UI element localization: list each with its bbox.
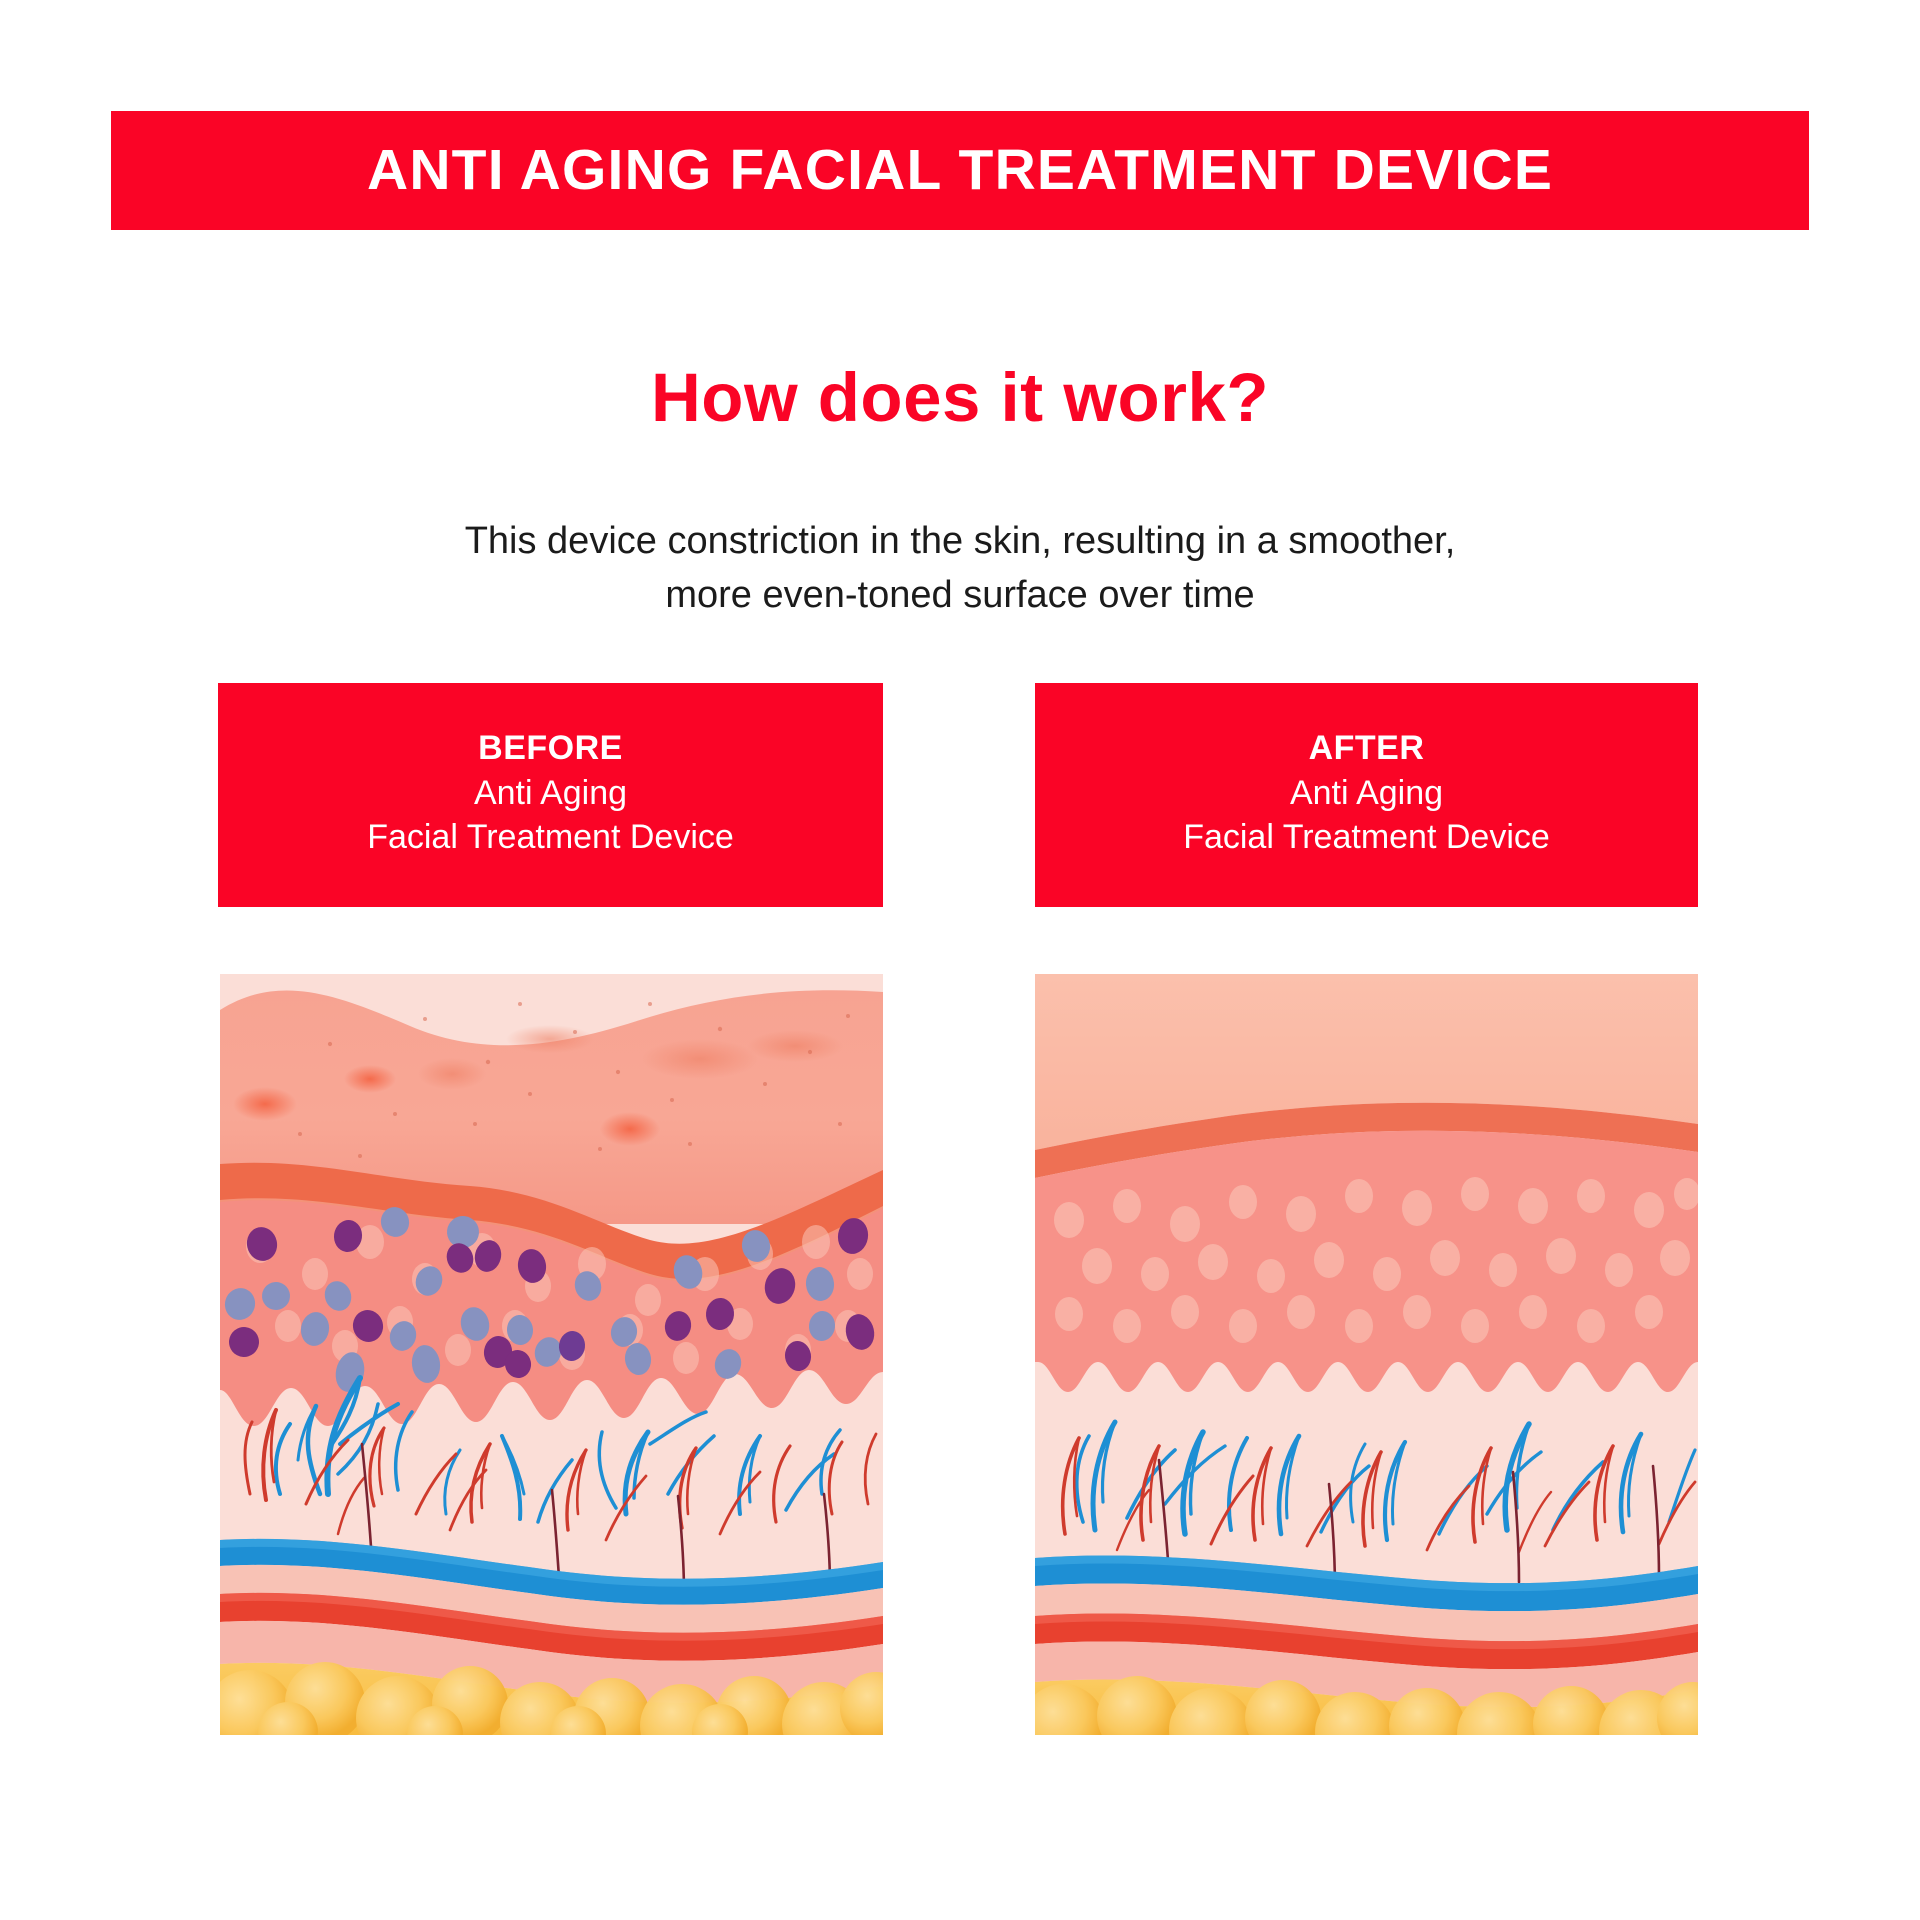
before-skin-illustration (220, 974, 883, 1735)
before-label-box: BEFORE Anti Aging Facial Treatment Devic… (218, 683, 883, 907)
description-line-1: This device constriction in the skin, re… (360, 515, 1560, 569)
after-product-line-1: Anti Aging (1290, 771, 1443, 815)
section-headline: How does it work? (0, 362, 1920, 434)
after-column: AFTER Anti Aging Facial Treatment Device (1035, 683, 1698, 907)
before-product-line-1: Anti Aging (474, 771, 627, 815)
before-product-line-2: Facial Treatment Device (367, 815, 734, 859)
header-banner: ANTI AGING FACIAL TREATMENT DEVICE (111, 111, 1809, 230)
page-title: ANTI AGING FACIAL TREATMENT DEVICE (367, 142, 1553, 199)
after-skin-illustration (1035, 974, 1698, 1735)
section-description: This device constriction in the skin, re… (360, 515, 1560, 623)
after-product-line-2: Facial Treatment Device (1183, 815, 1550, 859)
description-line-2: more even-toned surface over time (360, 569, 1560, 623)
before-state-label: BEFORE (478, 727, 623, 771)
after-state-label: AFTER (1309, 727, 1425, 771)
after-label-box: AFTER Anti Aging Facial Treatment Device (1035, 683, 1698, 907)
before-column: BEFORE Anti Aging Facial Treatment Devic… (218, 683, 883, 907)
infographic-page: ANTI AGING FACIAL TREATMENT DEVICE How d… (0, 0, 1920, 1920)
